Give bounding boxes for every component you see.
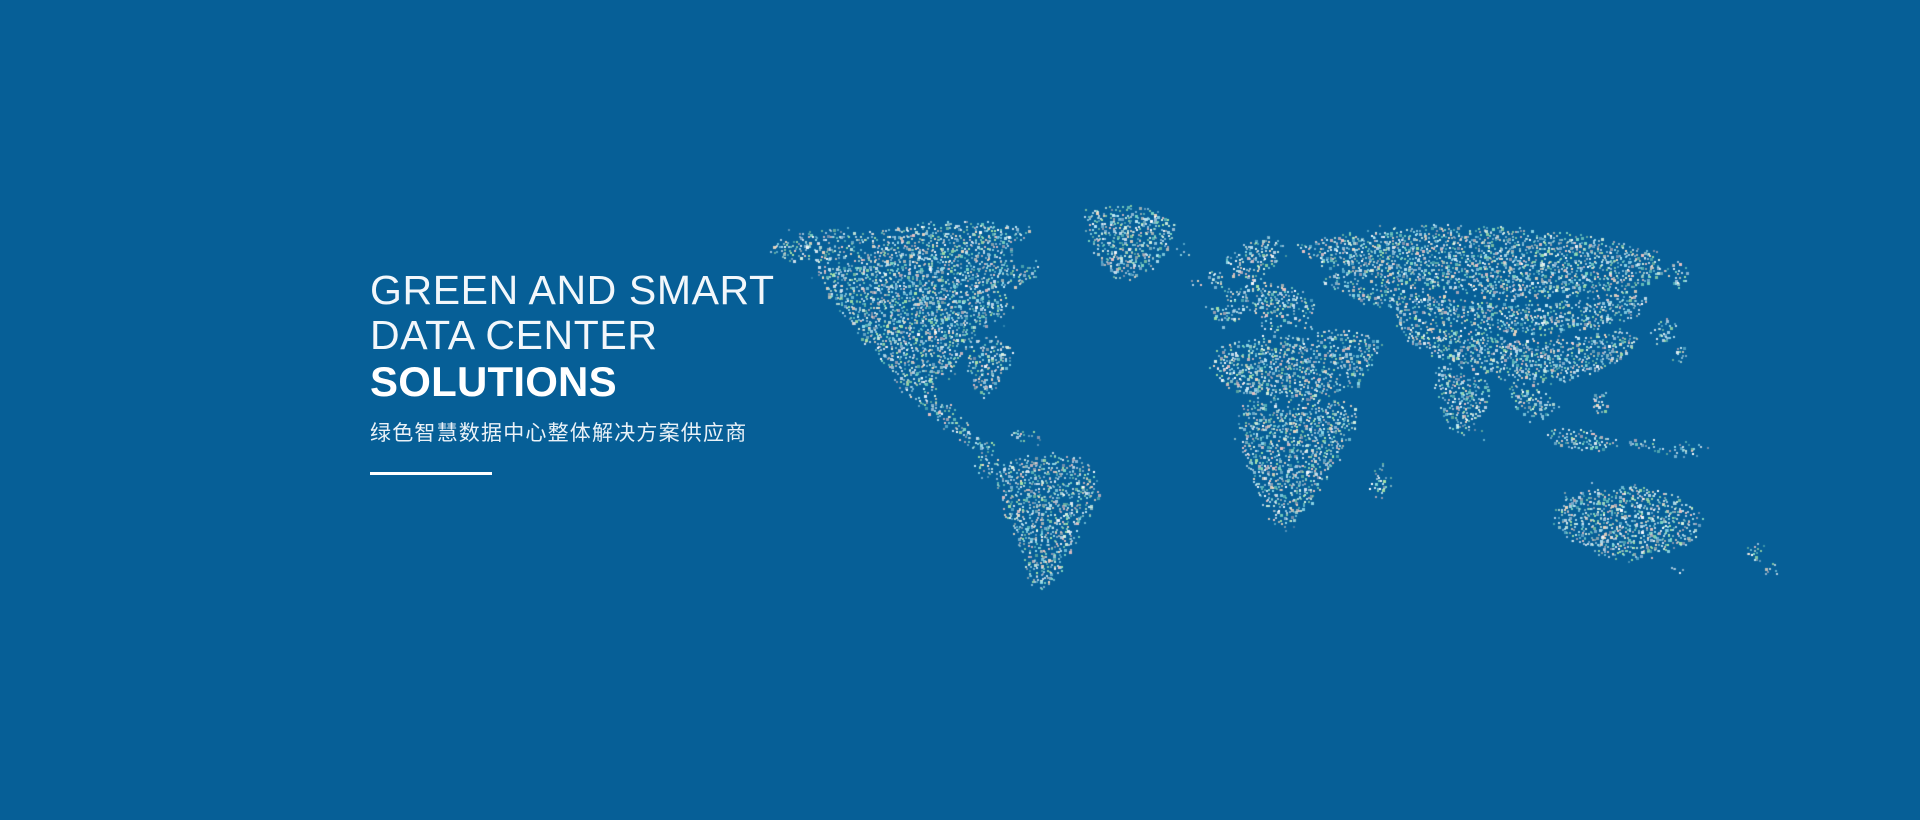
- hero-divider-rule: [370, 472, 492, 475]
- hero-title-line-1: GREEN AND SMART: [370, 268, 1130, 313]
- hero-subtitle-chinese: 绿色智慧数据中心整体解决方案供应商: [370, 420, 1130, 446]
- hero-banner: GREEN AND SMART DATA CENTER SOLUTIONS 绿色…: [0, 0, 1920, 820]
- hero-title-line-2: DATA CENTER: [370, 313, 1130, 358]
- hero-title-line-3: SOLUTIONS: [370, 358, 1130, 406]
- hero-headline-block: GREEN AND SMART DATA CENTER SOLUTIONS 绿色…: [370, 268, 1130, 475]
